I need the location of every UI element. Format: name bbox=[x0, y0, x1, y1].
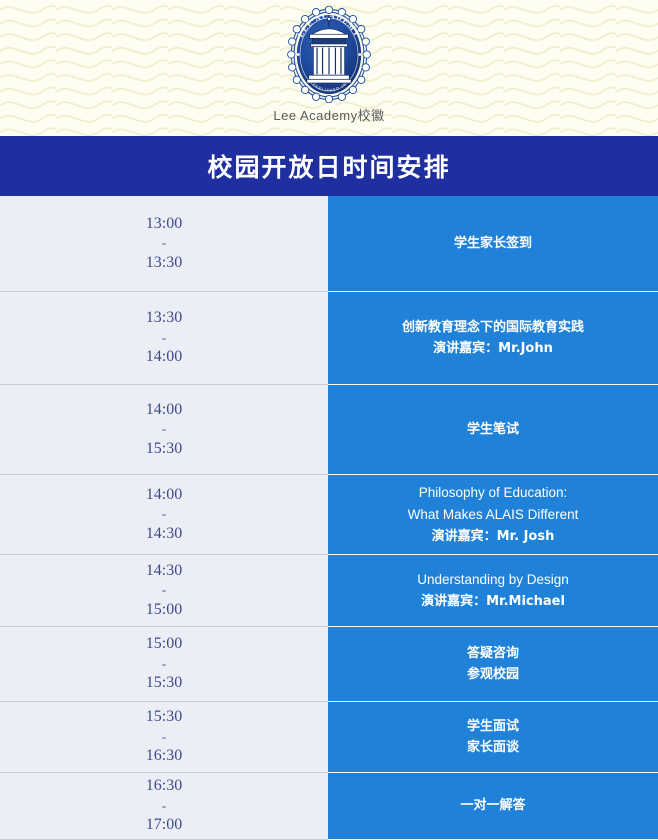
topic-cell: 一对一解答 bbox=[328, 773, 658, 840]
time-end: 15:30 bbox=[146, 437, 182, 462]
topic-cell: Philosophy of Education:What Makes ALAIS… bbox=[328, 475, 658, 555]
topic-line: 学生家长签到 bbox=[454, 233, 532, 254]
topic-line: 演讲嘉宾：Mr.John bbox=[433, 338, 553, 359]
time-cell: 13:00-13:30 bbox=[0, 196, 328, 292]
topic-line: 一对一解答 bbox=[460, 795, 525, 816]
time-start: 15:30 bbox=[146, 705, 182, 730]
schedule-row: 13:30-14:00创新教育理念下的国际教育实践演讲嘉宾：Mr.John bbox=[0, 292, 658, 385]
time-end: 15:00 bbox=[146, 598, 182, 623]
time-separator: - bbox=[162, 583, 166, 597]
topic-line: 参观校园 bbox=[467, 664, 519, 685]
schedule-table: 13:00-13:30学生家长签到13:30-14:00创新教育理念下的国际教育… bbox=[0, 196, 658, 840]
schedule-row: 15:30-16:30学生面试家长面谈 bbox=[0, 702, 658, 773]
topic-line: Philosophy of Education: bbox=[419, 482, 568, 504]
topic-cell: 学生面试家长面谈 bbox=[328, 702, 658, 773]
time-separator: - bbox=[162, 236, 166, 250]
schedule-row: 16:30-17:00一对一解答 bbox=[0, 773, 658, 840]
time-start: 15:00 bbox=[146, 632, 182, 657]
topic-line: 演讲嘉宾：Mr.Michael bbox=[421, 591, 565, 612]
time-start: 14:30 bbox=[146, 559, 182, 584]
time-cell: 14:00-14:30 bbox=[0, 475, 328, 555]
time-cell: 15:00-15:30 bbox=[0, 627, 328, 702]
open-day-schedule-page: LEE ACADEMY ESTABLISHED 1845 bbox=[0, 0, 658, 840]
time-cell: 16:30-17:00 bbox=[0, 773, 328, 840]
time-cell: 13:30-14:00 bbox=[0, 292, 328, 385]
time-start: 14:00 bbox=[146, 483, 182, 508]
time-start: 13:30 bbox=[146, 306, 182, 331]
topic-cell: 创新教育理念下的国际教育实践演讲嘉宾：Mr.John bbox=[328, 292, 658, 385]
schedule-row: 15:00-15:30答疑咨询参观校园 bbox=[0, 627, 658, 702]
topic-line: What Makes ALAIS Different bbox=[408, 504, 579, 526]
topic-cell: Understanding by Design演讲嘉宾：Mr.Michael bbox=[328, 555, 658, 627]
time-end: 15:30 bbox=[146, 671, 182, 696]
schedule-row: 14:30-15:00Understanding by Design演讲嘉宾：M… bbox=[0, 555, 658, 627]
page-title-banner: 校园开放日时间安排 bbox=[0, 136, 658, 196]
topic-cell: 答疑咨询参观校园 bbox=[328, 627, 658, 702]
time-cell: 15:30-16:30 bbox=[0, 702, 328, 773]
time-separator: - bbox=[162, 507, 166, 521]
schedule-row: 13:00-13:30学生家长签到 bbox=[0, 196, 658, 292]
topic-cell: 学生笔试 bbox=[328, 385, 658, 475]
topic-line: 学生笔试 bbox=[467, 419, 519, 440]
time-start: 16:30 bbox=[146, 774, 182, 799]
topic-line: 演讲嘉宾：Mr. Josh bbox=[432, 526, 555, 547]
time-cell: 14:00-15:30 bbox=[0, 385, 328, 475]
time-separator: - bbox=[162, 799, 166, 813]
time-end: 13:30 bbox=[146, 251, 182, 276]
topic-line: 学生面试 bbox=[467, 716, 519, 737]
hero-header: LEE ACADEMY ESTABLISHED 1845 bbox=[0, 0, 658, 136]
topic-cell: 学生家长签到 bbox=[328, 196, 658, 292]
time-end: 17:00 bbox=[146, 813, 182, 838]
topic-line: 创新教育理念下的国际教育实践 bbox=[402, 317, 584, 338]
time-cell: 14:30-15:00 bbox=[0, 555, 328, 627]
topic-line: 家长面谈 bbox=[467, 737, 519, 758]
logo-caption: Lee Academy校徽 bbox=[273, 105, 384, 124]
time-start: 14:00 bbox=[146, 398, 182, 423]
schedule-row: 14:00-14:30Philosophy of Education:What … bbox=[0, 475, 658, 555]
time-end: 14:30 bbox=[146, 522, 182, 547]
page-title: 校园开放日时间安排 bbox=[207, 148, 450, 184]
topic-line: Understanding by Design bbox=[417, 569, 569, 591]
time-separator: - bbox=[162, 730, 166, 744]
time-separator: - bbox=[162, 422, 166, 436]
schedule-row: 14:00-15:30学生笔试 bbox=[0, 385, 658, 475]
topic-line: 答疑咨询 bbox=[467, 643, 519, 664]
lee-academy-crest-icon: LEE ACADEMY ESTABLISHED 1845 bbox=[283, 6, 375, 103]
time-end: 16:30 bbox=[146, 744, 182, 769]
time-separator: - bbox=[162, 657, 166, 671]
time-end: 14:00 bbox=[146, 345, 182, 370]
time-start: 13:00 bbox=[146, 212, 182, 237]
time-separator: - bbox=[162, 331, 166, 345]
